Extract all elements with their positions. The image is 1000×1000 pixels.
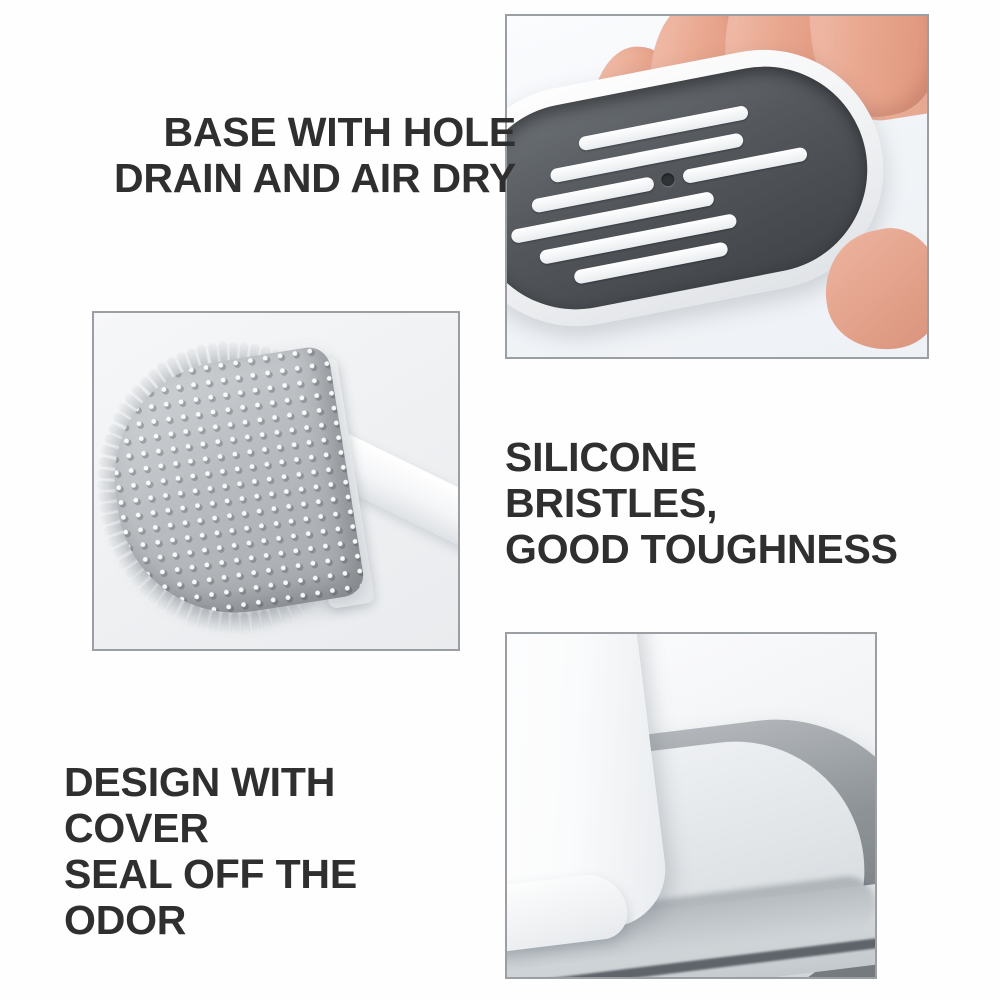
caption-design-with-cover: DESIGN WITH COVER SEAL OFF THE ODOR bbox=[64, 760, 484, 944]
caption-base-with-hole: BASE WITH HOLE DRAIN AND AIR DRY bbox=[96, 110, 516, 202]
bristle-tooth bbox=[241, 613, 249, 633]
caption-silicone-bristles: SILICONE BRISTLES, GOOD TOUGHNESS bbox=[505, 435, 905, 573]
panel-cover-seal bbox=[505, 632, 877, 979]
silicone-brush-head bbox=[98, 344, 367, 629]
infographic-canvas: BASE WITH HOLE DRAIN AND AIR DRY SILICON… bbox=[0, 0, 1000, 1000]
center-drain-hole bbox=[660, 172, 675, 187]
bristle-dot-texture bbox=[98, 344, 367, 629]
bristle-tooth bbox=[231, 613, 238, 633]
panel-base-with-drain-holes bbox=[505, 14, 929, 359]
panel-silicone-bristles bbox=[92, 311, 460, 651]
brush-head-body bbox=[98, 344, 367, 629]
